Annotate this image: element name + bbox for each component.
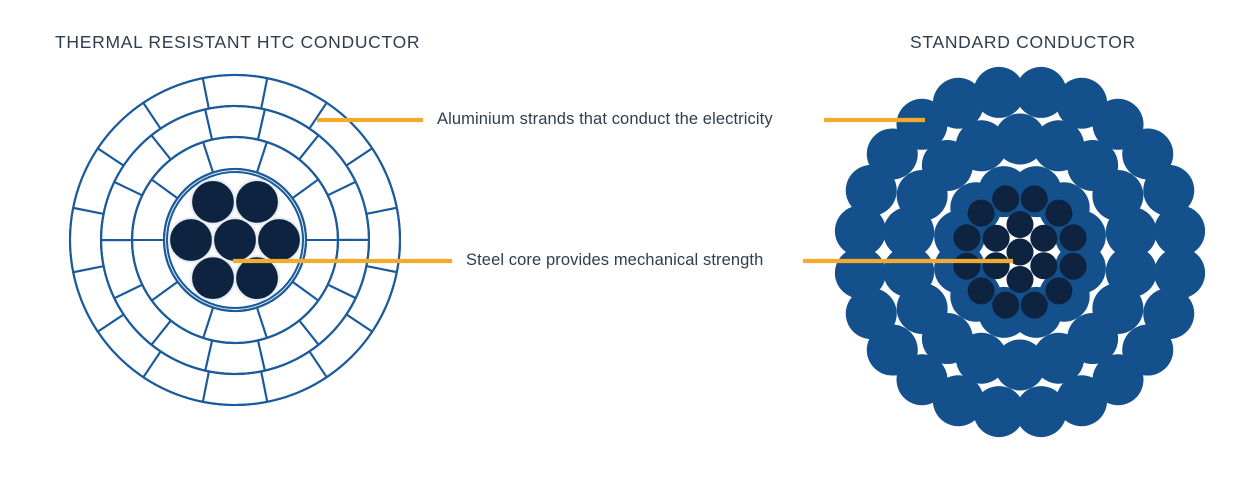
left-conductor-steel-core — [167, 172, 303, 308]
steel-core-strand — [1030, 252, 1057, 279]
steel-core-strand — [1030, 225, 1057, 252]
left-conductor-group: THERMAL RESISTANT HTC CONDUCTOR — [55, 32, 420, 405]
steel-core-strand — [983, 225, 1010, 252]
steel-core-strand — [1045, 277, 1072, 304]
steel-core-strand — [968, 277, 995, 304]
left-core-steel-strand — [235, 180, 279, 224]
steel-core-strand — [1007, 211, 1034, 238]
steel-core-strand — [1021, 185, 1048, 212]
callout-steel-core-label: Steel core provides mechanical strength — [466, 251, 763, 269]
steel-core-strand — [1007, 266, 1034, 293]
conductor-comparison-diagram: THERMAL RESISTANT HTC CONDUCTOR STANDARD… — [0, 0, 1241, 495]
left-core-steel-strand — [213, 218, 257, 262]
aluminium-strand — [973, 67, 1024, 118]
left-conductor-strand-segment — [203, 308, 267, 343]
right-conductor-group: STANDARD CONDUCTOR — [835, 32, 1205, 437]
callout-aluminium-label: Aluminium strands that conduct the elect… — [437, 110, 773, 128]
steel-core-strand — [953, 224, 980, 251]
steel-core-strand — [992, 185, 1019, 212]
steel-core-strand — [968, 200, 995, 227]
left-core-steel-strand — [169, 218, 213, 262]
left-conductor-strand-segment — [203, 137, 267, 172]
steel-core-strand — [1045, 200, 1072, 227]
steel-core-strand — [992, 292, 1019, 319]
right-conductor-title: STANDARD CONDUCTOR — [910, 32, 1136, 52]
left-conductor-strand-segment — [205, 106, 265, 140]
steel-core-strand — [983, 252, 1010, 279]
left-conductor-strand-segment — [70, 208, 104, 272]
steel-core-strand — [1021, 292, 1048, 319]
left-conductor-strand-segment — [203, 371, 267, 405]
diagram-canvas: THERMAL RESISTANT HTC CONDUCTOR STANDARD… — [0, 0, 1241, 495]
left-core-steel-strand — [191, 180, 235, 224]
left-conductor-title: THERMAL RESISTANT HTC CONDUCTOR — [55, 32, 420, 52]
left-conductor-strand-segment — [203, 75, 267, 109]
steel-core-strand — [1060, 253, 1087, 280]
steel-core-strand — [1060, 224, 1087, 251]
left-core-steel-strand — [257, 218, 301, 262]
steel-core-strand — [953, 253, 980, 280]
left-conductor-strand-segment — [205, 340, 265, 374]
left-core-steel-strand — [191, 256, 235, 300]
